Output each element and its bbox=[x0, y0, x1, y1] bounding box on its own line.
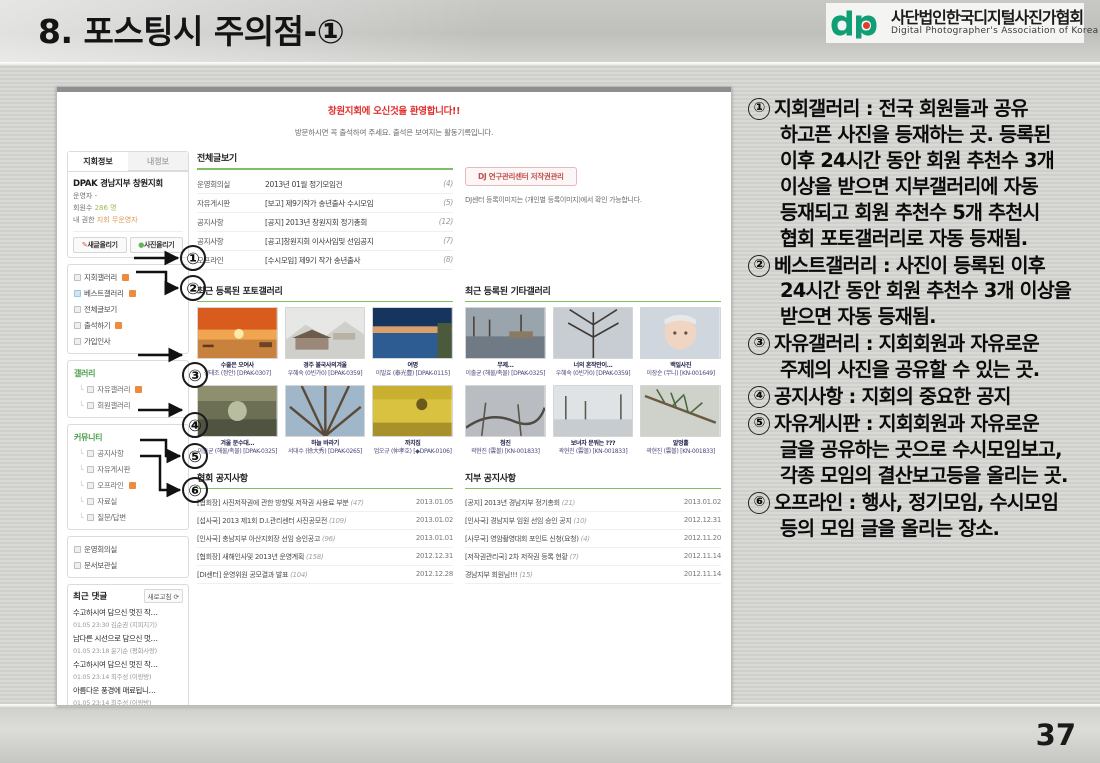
table-row[interactable]: 경남지부 회원님!!! (15) 2012.11.14 bbox=[465, 566, 721, 584]
sidebar-item-all-posts[interactable]: 전체글보기 bbox=[73, 301, 183, 317]
sidebar-tail-menu: 운영회의실 문서보관실 bbox=[67, 536, 189, 578]
notice-date: 2012.11.20 bbox=[684, 534, 721, 544]
welcome-subtitle: 방문하시면 꼭 출석하여 주세요. 출석은 보여지는 활동기록입니다. bbox=[67, 127, 721, 138]
list-item[interactable]: 첨진 곽현진 (雲볼) [KN-001833] bbox=[465, 385, 546, 455]
notice-date: 2012.12.31 bbox=[416, 552, 453, 562]
notice-text: [저작권관리국] 2차 저작권 등록 현황 (7) bbox=[465, 552, 678, 562]
explanation-item-4: ④ 공지사항 : 지회의 중요한 공지 bbox=[748, 384, 1096, 410]
menu-label: 자유갤러리 bbox=[97, 384, 130, 395]
folder-blue-icon bbox=[74, 290, 81, 297]
menu-label: 자료실 bbox=[97, 496, 117, 507]
post-category: 공지사항 bbox=[197, 217, 265, 228]
thumbnail-title: 까치집 bbox=[372, 440, 453, 448]
other-gallery-title: 최근 등록된 기타갤러리 bbox=[465, 284, 721, 302]
thumbnail-author: 이말효 (泰光豊) [DPAK-0115] bbox=[376, 370, 450, 377]
permission-label: 내 권한 bbox=[73, 216, 95, 224]
table-row[interactable]: [인사국] 충남지부 아산지회장 선임 승인공고 (96) 2013.01.01 bbox=[197, 530, 453, 548]
board-icon bbox=[87, 466, 94, 473]
list-item[interactable]: 알멍홀 곽현진 (雲볼) [KN-001833] bbox=[640, 385, 721, 455]
sidebar-gallery-group: 갤러리 └ 자유갤러리 └ 회원갤러리 bbox=[67, 360, 189, 418]
thumbnail-caption: 첨진 곽현진 (雲볼) [KN-001833] bbox=[465, 440, 546, 455]
notice-text: [사무국] 영암촬영대회 포인트 신청(요청) (4) bbox=[465, 534, 678, 544]
photo-gallery-panel: 최근 등록된 포토갤러리 bbox=[197, 284, 453, 455]
notice-text: [공지] 2013년 경남지부 정기총회 (21) bbox=[465, 498, 678, 508]
operator-value: - bbox=[95, 192, 98, 200]
thumbnail-author: 곽현진 (雲볼) [KN-001833] bbox=[471, 448, 540, 455]
thumbnail-caption: 너의 혼작만이… 우혜숙 (0빈가0) [DPAK-0359] bbox=[553, 362, 634, 377]
list-item[interactable]: 너의 혼작만이… 우혜숙 (0빈가0) [DPAK-0359] bbox=[553, 307, 634, 377]
sidebar-item-attendance[interactable]: 출석하기 bbox=[73, 317, 183, 333]
thumbnail-author: 우혜숙 (0빈가0) [DPAK-0359] bbox=[288, 370, 363, 377]
explanation-item-3: ③ 자유갤러리 : 지회회원과 자유로운 주제의 사진을 공유할 수 있는 곳. bbox=[748, 331, 1096, 383]
gallery-group-title: 갤러리 bbox=[73, 365, 183, 381]
tree-lead-icon: └ bbox=[79, 401, 83, 410]
tree-lead-icon: └ bbox=[79, 497, 83, 506]
menu-label: 운영회의실 bbox=[84, 544, 117, 555]
thumbnail-title: 너의 혼작만이… bbox=[553, 362, 634, 370]
list-item[interactable]: 하늘 바라기 서대수 (徐大秀) [DPAK-0265] bbox=[285, 385, 366, 455]
notice-text: 경남지부 회원님!!! (15) bbox=[465, 570, 678, 580]
thumbnail-title: 겨울 분수대… bbox=[197, 440, 278, 448]
folder-icon bbox=[87, 386, 94, 393]
explanation-item-6: ⑥ 오프라인 : 행사, 정기모임, 수시모임 등의 모임 글을 올리는 장소. bbox=[748, 490, 1096, 542]
comment-meta: 01.05 23:14 최주성 (이랑방) bbox=[73, 697, 183, 706]
all-posts-panel: 전체글보기 운영회의실 2013년 01월 정기모임건 (4) 자유게시판 [보… bbox=[197, 151, 453, 270]
new-badge-icon bbox=[115, 322, 122, 329]
thumbnail-caption: 보녀자 문워는 ??? 곽현진 (雲볼) [KN-001833] bbox=[553, 440, 634, 455]
menu-label: 질문/답변 bbox=[97, 512, 126, 523]
sidebar-item-offline[interactable]: └ 오프라인 bbox=[73, 477, 183, 493]
comment-meta: 01.05 23:14 최주성 (이랑방) bbox=[73, 671, 183, 681]
notice-count: (158) bbox=[306, 553, 323, 561]
thumbnail-title: 백일사진 bbox=[640, 362, 721, 370]
post-category: 운영회의실 bbox=[197, 179, 265, 190]
table-row[interactable]: 공지사항 [공지] 2013년 창원지회 정기총회 (12) bbox=[197, 213, 453, 232]
notice-count: (15) bbox=[519, 571, 532, 579]
notice-text: [DI센터] 운영위원 공모결과 발표 (104) bbox=[197, 570, 410, 580]
thumbnail-author: 곽현진 (雲볼) [KN-001833] bbox=[646, 448, 715, 455]
group-title: DPAK 경남지부 창원지회 bbox=[73, 177, 183, 189]
thumbnail-author: 이출균 (해물/촉물) [DPAK-0325] bbox=[466, 370, 546, 377]
thumbnail-caption: 겨울 분수대… 이출균 (해물/촉물) [DPAK-0325] bbox=[197, 440, 278, 455]
sidebar-item-member-gallery[interactable]: └ 회원갤러리 bbox=[73, 397, 183, 413]
thumbnail-title: 경주 불국사의겨울 bbox=[285, 362, 366, 370]
dp-logo-icon bbox=[830, 6, 886, 40]
association-notice-panel: 협회 공지사항 [협회장] 사진저작권에 관한 방향및 저작권 사용료 부분 (… bbox=[197, 471, 453, 584]
explanation-body: 자유게시판 : 지회회원과 자유로운 글을 공유하는 곳으로 수시모임보고, 각… bbox=[774, 411, 1096, 489]
thumbnail-author: 이출균 (해물/촉물) [DPAK-0325] bbox=[198, 448, 278, 455]
comment-text: 수고하시여 담으신 멋진 작… bbox=[73, 659, 183, 670]
board-icon bbox=[74, 562, 81, 569]
community-group-title: 커뮤니티 bbox=[73, 429, 183, 445]
sidebar-main-menu: 지회갤러리 베스트갤러리 전체글보기 출석하기 bbox=[67, 264, 189, 354]
thumbnail-winter-fountain bbox=[197, 385, 278, 437]
thumbnail-baby bbox=[640, 307, 721, 359]
post-title: [수시모임] 제9기 작가 송년출사 bbox=[265, 255, 443, 266]
tab-my-info[interactable]: 내정보 bbox=[128, 152, 188, 171]
thumbnail-pine-branch bbox=[640, 385, 721, 437]
comment-text: 남다른 시선으로 담으신 멋… bbox=[73, 633, 183, 644]
slide-footer-band bbox=[0, 706, 1100, 763]
refresh-icon: ⟳ bbox=[174, 593, 179, 601]
new-badge-icon bbox=[129, 290, 136, 297]
sidebar-item-greeting[interactable]: 가입인사 bbox=[73, 333, 183, 349]
menu-label: 문서보관실 bbox=[84, 560, 117, 571]
notice-date: 2013.01.01 bbox=[416, 534, 453, 544]
list-item[interactable]: 여명 이말효 (泰光豊) [DPAK-0115] bbox=[372, 307, 453, 377]
thumbnail-title: 보녀자 문워는 ??? bbox=[553, 440, 634, 448]
branch-notice-panel: 지부 공지사항 [공지] 2013년 경남지부 정기총회 (21) 2013.0… bbox=[465, 471, 721, 584]
explanation-item-1: ① 지회갤러리 : 전국 회원들과 공유 하고픈 사진을 등재하는 곳. 등록된… bbox=[748, 96, 1096, 252]
folder-icon bbox=[74, 274, 81, 281]
thumbnail-caption: 경주 불국사의겨울 우혜숙 (0빈가0) [DPAK-0359] bbox=[285, 362, 366, 377]
thumbnail-title: 수줄은 오여사 bbox=[197, 362, 278, 370]
post-count: (7) bbox=[443, 236, 453, 247]
explanation-number: ② bbox=[748, 255, 770, 277]
thumbnail-title: 무제… bbox=[465, 362, 546, 370]
check-icon bbox=[74, 322, 81, 329]
notice-count: (4) bbox=[581, 535, 590, 543]
explanation-list: ① 지회갤러리 : 전국 회원들과 공유 하고픈 사진을 등재하는 곳. 등록된… bbox=[748, 96, 1096, 543]
table-row[interactable]: [공지] 2013년 경남지부 정기총회 (21) 2013.01.02 bbox=[465, 494, 721, 512]
permission-value: 지회 무운영자 bbox=[97, 216, 138, 224]
notice-count: (47) bbox=[350, 499, 363, 507]
explanation-number: ⑥ bbox=[748, 492, 770, 514]
thumbnail-title: 알멍홀 bbox=[640, 440, 721, 448]
post-category: 자유게시판 bbox=[197, 198, 265, 209]
notice-text: [인사국] 경남지부 임원 선임 승인 공지 (10) bbox=[465, 516, 678, 526]
list-item[interactable]: 경주 불국사의겨울 우혜숙 (0빈가0) [DPAK-0359] bbox=[285, 307, 366, 377]
table-row[interactable]: 오프라인 [수시모임] 제9기 작가 송년출사 (8) bbox=[197, 251, 453, 270]
menu-label: 오프라인 bbox=[97, 480, 123, 491]
explanation-number: ⑤ bbox=[748, 413, 770, 435]
notice-text: [협회장] 새해인사및 2013년 운영계획 (158) bbox=[197, 552, 410, 562]
notice-count: (109) bbox=[329, 517, 346, 525]
notice-count: (21) bbox=[562, 499, 575, 507]
logo-english-name: Digital Photographer's Association of Ko… bbox=[891, 27, 1098, 36]
thumbnail-caption: 하늘 바라기 서대수 (徐大秀) [DPAK-0265] bbox=[285, 440, 366, 455]
notice-text: [협회장] 사진저작권에 관한 방향및 저작권 사용료 부분 (47) bbox=[197, 498, 410, 508]
info-operator: 운영자 - bbox=[73, 191, 183, 201]
explanation-number: ④ bbox=[748, 386, 770, 408]
thumbnail-caption: 까치집 엄오규 (仲孝호) [◆DPAK-0106] bbox=[372, 440, 453, 455]
sidebar-community-group: 커뮤니티 └ 공지사항 └ 자유게시판 └ 오프라인 bbox=[67, 424, 189, 530]
post-count: (12) bbox=[439, 217, 453, 228]
photo-gallery-title: 최근 등록된 포토갤러리 bbox=[197, 284, 453, 302]
explanation-body: 베스트갤러리 : 사진이 등록된 이후 24시간 동안 회원 추천수 3개 이상… bbox=[774, 253, 1096, 331]
info-members: 회원수 286 명 bbox=[73, 203, 183, 213]
list-item[interactable]: 보녀자 문워는 ??? 곽현진 (雲볼) [KN-001833] bbox=[553, 385, 634, 455]
thumbnail-winter-branch bbox=[465, 385, 546, 437]
table-row[interactable]: [협회장] 새해인사및 2013년 운영계획 (158) 2012.12.31 bbox=[197, 548, 453, 566]
notice-date: 2012.11.14 bbox=[684, 552, 721, 562]
table-row[interactable]: 운영회의실 2013년 01월 정기모임건 (4) bbox=[197, 175, 453, 194]
group-info-card: 지회정보 내정보 DPAK 경남지부 창원지회 운영자 - 회원수 286 명 … bbox=[67, 151, 189, 258]
notice-date: 2012.12.31 bbox=[684, 516, 721, 526]
comment-text: 아름다운 풍경에 매료됩니… bbox=[73, 685, 183, 696]
notice-date: 2013.01.02 bbox=[416, 516, 453, 526]
info-permission: 내 권한 지회 무운영자 bbox=[73, 215, 183, 225]
tree-lead-icon: └ bbox=[79, 481, 83, 490]
menu-label: 가입인사 bbox=[84, 336, 110, 347]
post-count: (4) bbox=[443, 179, 453, 190]
menu-label: 공지사항 bbox=[97, 448, 123, 459]
explanation-body: 공지사항 : 지회의 중요한 공지 bbox=[774, 384, 1096, 410]
menu-label: 지회갤러리 bbox=[84, 272, 117, 283]
sidebar-item-document-room[interactable]: 문서보관실 bbox=[73, 557, 183, 573]
thumbnail-blue-sea bbox=[372, 307, 453, 359]
recent-comments-panel: 최근 댓글 새로고침 ⟳ 수고하시여 담으신 멋진 작… 01.05 23:30… bbox=[67, 584, 189, 706]
explanation-body: 지회갤러리 : 전국 회원들과 공유 하고픈 사진을 등재하는 곳. 등록된 이… bbox=[774, 96, 1096, 252]
hand-icon bbox=[74, 338, 81, 345]
thumbnail-yellow-field bbox=[372, 385, 453, 437]
thumbnail-caption: 수줄은 오여사 정태조 (정안) [DPAK-0307] bbox=[197, 362, 278, 377]
list-item[interactable]: 까치집 엄오규 (仲孝호) [◆DPAK-0106] bbox=[372, 385, 453, 455]
website-screenshot: 창원지회에 오신것을 환영합니다!! 방문하시면 꼭 출석하여 주세요. 출석은… bbox=[56, 86, 732, 706]
thumbnail-title: 첨진 bbox=[465, 440, 546, 448]
branch-notice-title: 지부 공지사항 bbox=[465, 471, 721, 489]
thumbnail-caption: 백일사진 이장순 (무니) [KN-001649] bbox=[640, 362, 721, 377]
post-count: (5) bbox=[443, 198, 453, 209]
explanation-number: ③ bbox=[748, 333, 770, 355]
sidebar: 지회정보 내정보 DPAK 경남지부 창원지회 운영자 - 회원수 286 명 … bbox=[67, 151, 189, 706]
list-item[interactable]: 겨울 분수대… 이출균 (해물/촉물) [DPAK-0325] bbox=[197, 385, 278, 455]
notice-count: (96) bbox=[322, 535, 335, 543]
post-title: [공고]창원지회 이사사임및 선임공지 bbox=[265, 236, 443, 247]
thumbnail-caption: 여명 이말효 (泰光豊) [DPAK-0115] bbox=[372, 362, 453, 377]
page-title: 8. 포스팅시 주의점-① bbox=[38, 5, 344, 53]
board-icon bbox=[74, 546, 81, 553]
sidebar-item-notice[interactable]: └ 공지사항 bbox=[73, 445, 183, 461]
explanation-item-2: ② 베스트갤러리 : 사진이 등록된 이후 24시간 동안 회원 추천수 3개 … bbox=[748, 253, 1096, 331]
menu-label: 출석하기 bbox=[84, 320, 110, 331]
list-icon bbox=[74, 306, 81, 313]
table-row[interactable]: [사무국] 영암촬영대회 포인트 신청(요청) (4) 2012.11.20 bbox=[465, 530, 721, 548]
notice-text: [인사국] 충남지부 아산지회장 선임 승인공고 (96) bbox=[197, 534, 410, 544]
thumbnail-winter-lake bbox=[465, 307, 546, 359]
post-count: (8) bbox=[443, 255, 453, 266]
main-content: 전체글보기 운영회의실 2013년 01월 정기모임건 (4) 자유게시판 [보… bbox=[197, 151, 721, 706]
thumbnail-title: 여명 bbox=[372, 362, 453, 370]
board-icon bbox=[87, 514, 94, 521]
sidebar-item-branch-gallery[interactable]: 지회갤러리 bbox=[73, 269, 183, 285]
new-badge-icon bbox=[129, 482, 136, 489]
list-item[interactable]: 남다른 시선으로 담으신 멋… 01.05 23:18 윤기순 (평화사랑) bbox=[73, 633, 183, 655]
upload-photo-button[interactable]: ●사진올리기 bbox=[130, 237, 184, 253]
post-title: [공지] 2013년 창원지회 정기총회 bbox=[265, 217, 439, 228]
notice-date: 2013.01.02 bbox=[684, 498, 721, 508]
thumbnail-author: 서대수 (徐大秀) [DPAK-0265] bbox=[288, 448, 362, 455]
thumbnail-author: 정태조 (정안) [DPAK-0307] bbox=[204, 370, 271, 377]
table-row[interactable]: 공지사항 [공고]창원지회 이사사임및 선임공지 (7) bbox=[197, 232, 453, 251]
thumbnail-author: 이장순 (무니) [KN-001649] bbox=[647, 370, 715, 377]
notice-date: 2012.12.28 bbox=[416, 570, 453, 580]
tab-group-info[interactable]: 지회정보 bbox=[68, 152, 128, 171]
sidebar-item-best-gallery[interactable]: 베스트갤러리 bbox=[73, 285, 183, 301]
list-item[interactable]: 수고하시여 담으신 멋진 작… 01.05 23:30 김순권 (지피지기) bbox=[73, 607, 183, 629]
members-label: 회원수 bbox=[73, 204, 92, 212]
association-notice-title: 협회 공지사항 bbox=[197, 471, 453, 489]
table-row[interactable]: [협회장] 사진저작권에 관한 방향및 저작권 사용료 부분 (47) 2013… bbox=[197, 494, 453, 512]
notice-count: (10) bbox=[574, 517, 587, 525]
copyright-center-button[interactable]: DJ 연구관리센터 저작권관리 bbox=[465, 167, 577, 186]
menu-label: 전체글보기 bbox=[84, 304, 117, 315]
thumbnail-author: 엄오규 (仲孝호) [◆DPAK-0106] bbox=[374, 448, 452, 455]
folder-icon bbox=[87, 402, 94, 409]
new-post-button[interactable]: ✎새글올리기 bbox=[73, 237, 127, 253]
refresh-button[interactable]: 새로고침 ⟳ bbox=[144, 589, 183, 603]
table-row[interactable]: 자유게시판 [보고] 제9기작가 송년출사 수시모임 (5) bbox=[197, 194, 453, 213]
logo-korean-name: 사단법인한국디지털사진가협회 bbox=[891, 10, 1098, 27]
table-row[interactable]: [인사국] 경남지부 임원 선임 승인 공지 (10) 2012.12.31 bbox=[465, 512, 721, 530]
explanation-body: 오프라인 : 행사, 정기모임, 수시모임 등의 모임 글을 올리는 장소. bbox=[774, 490, 1096, 542]
copyright-panel: DJ 연구관리센터 저작권관리 DJ센터 등록이미지는 (개인별 등록이미지)에… bbox=[465, 151, 721, 270]
sidebar-item-meeting-room[interactable]: 운영회의실 bbox=[73, 541, 183, 557]
page-number: 37 bbox=[1036, 718, 1076, 752]
list-item[interactable]: 수줄은 오여사 정태조 (정안) [DPAK-0307] bbox=[197, 307, 278, 377]
notice-count: (104) bbox=[290, 571, 307, 579]
tree-lead-icon: └ bbox=[79, 513, 83, 522]
copyright-note: DJ센터 등록이미지는 (개인별 등록이미지)에서 확인 가능합니다. bbox=[465, 195, 721, 205]
thumbnail-snow-temple bbox=[285, 307, 366, 359]
explanation-item-5: ⑤ 자유게시판 : 지회회원과 자유로운 글을 공유하는 곳으로 수시모임보고,… bbox=[748, 411, 1096, 489]
tree-lead-icon: └ bbox=[79, 465, 83, 474]
post-title: 2013년 01월 정기모임건 bbox=[265, 179, 443, 190]
menu-label: 베스트갤러리 bbox=[84, 288, 124, 299]
recent-comments-title: 최근 댓글 bbox=[73, 590, 107, 602]
list-item[interactable]: 아름다운 풍경에 매료됩니… 01.05 23:14 최주성 (이랑방) bbox=[73, 685, 183, 706]
thumbnail-title: 하늘 바라기 bbox=[285, 440, 366, 448]
sidebar-tabs[interactable]: 지회정보 내정보 bbox=[68, 152, 188, 172]
operator-label: 운영자 bbox=[73, 192, 92, 200]
other-gallery-panel: 최근 등록된 기타갤러리 무제… bbox=[465, 284, 721, 455]
new-badge-icon bbox=[135, 386, 142, 393]
menu-label: 자유게시판 bbox=[97, 464, 130, 475]
welcome-title: 창원지회에 오신것을 환영합니다!! bbox=[67, 103, 721, 117]
board-icon bbox=[87, 450, 94, 457]
comment-meta: 01.05 23:30 김순권 (지피지기) bbox=[73, 619, 183, 629]
post-category: 공지사항 bbox=[197, 236, 265, 247]
notice-date: 2012.11.14 bbox=[684, 570, 721, 580]
new-badge-icon bbox=[122, 274, 129, 281]
post-title: [보고] 제9기작가 송년출사 수시모임 bbox=[265, 198, 443, 209]
notice-count: (7) bbox=[570, 553, 579, 561]
tree-lead-icon: └ bbox=[79, 449, 83, 458]
explanation-body: 자유갤러리 : 지회회원과 자유로운 주제의 사진을 공유할 수 있는 곳. bbox=[774, 331, 1096, 383]
header-divider bbox=[0, 62, 1100, 65]
list-item[interactable]: 백일사진 이장순 (무니) [KN-001649] bbox=[640, 307, 721, 377]
sidebar-item-free-board[interactable]: └ 자유게시판 bbox=[73, 461, 183, 477]
table-row[interactable]: [섭사국] 2013 제1회 D.I.관리센터 사진공모전 (109) 2013… bbox=[197, 512, 453, 530]
tree-lead-icon: └ bbox=[79, 385, 83, 394]
thumbnail-caption: 무제… 이출균 (해물/촉물) [DPAK-0325] bbox=[465, 362, 546, 377]
members-value: 286 명 bbox=[95, 204, 117, 212]
list-item[interactable]: 수고하시여 담으신 멋진 작… 01.05 23:14 최주성 (이랑방) bbox=[73, 659, 183, 681]
thumbnail-author: 곽현진 (雲볼) [KN-001833] bbox=[559, 448, 628, 455]
explanation-number: ① bbox=[748, 98, 770, 120]
sidebar-item-archive[interactable]: └ 자료실 bbox=[73, 493, 183, 509]
menu-label: 회원갤러리 bbox=[97, 400, 130, 411]
notice-date: 2013.01.05 bbox=[416, 498, 453, 508]
thumbnail-caption: 알멍홀 곽현진 (雲볼) [KN-001833] bbox=[640, 440, 721, 455]
sidebar-item-qna[interactable]: └ 질문/답변 bbox=[73, 509, 183, 525]
notice-text: [섭사국] 2013 제1회 D.I.관리센터 사진공모전 (109) bbox=[197, 516, 410, 526]
comment-meta: 01.05 23:18 윤기순 (평화사랑) bbox=[73, 645, 183, 655]
thumbnail-sky-trees bbox=[285, 385, 366, 437]
all-posts-title: 전체글보기 bbox=[197, 151, 453, 170]
post-category: 오프라인 bbox=[197, 255, 265, 266]
thumbnail-snow-field bbox=[553, 385, 634, 437]
list-item[interactable]: 무제… 이출균 (해물/촉물) [DPAK-0325] bbox=[465, 307, 546, 377]
board-icon bbox=[87, 482, 94, 489]
thumbnail-night-tree bbox=[553, 307, 634, 359]
comment-text: 수고하시여 담으신 멋진 작… bbox=[73, 607, 183, 618]
thumbnail-sunset bbox=[197, 307, 278, 359]
board-icon bbox=[87, 498, 94, 505]
thumbnail-author: 우혜숙 (0빈가0) [DPAK-0359] bbox=[556, 370, 631, 377]
association-logo: 사단법인한국디지털사진가협회 Digital Photographer's As… bbox=[826, 3, 1084, 43]
sidebar-item-free-gallery[interactable]: └ 자유갤러리 bbox=[73, 381, 183, 397]
table-row[interactable]: [DI센터] 운영위원 공모결과 발표 (104) 2012.12.28 bbox=[197, 566, 453, 584]
table-row[interactable]: [저작권관리국] 2차 저작권 등록 현황 (7) 2012.11.14 bbox=[465, 548, 721, 566]
